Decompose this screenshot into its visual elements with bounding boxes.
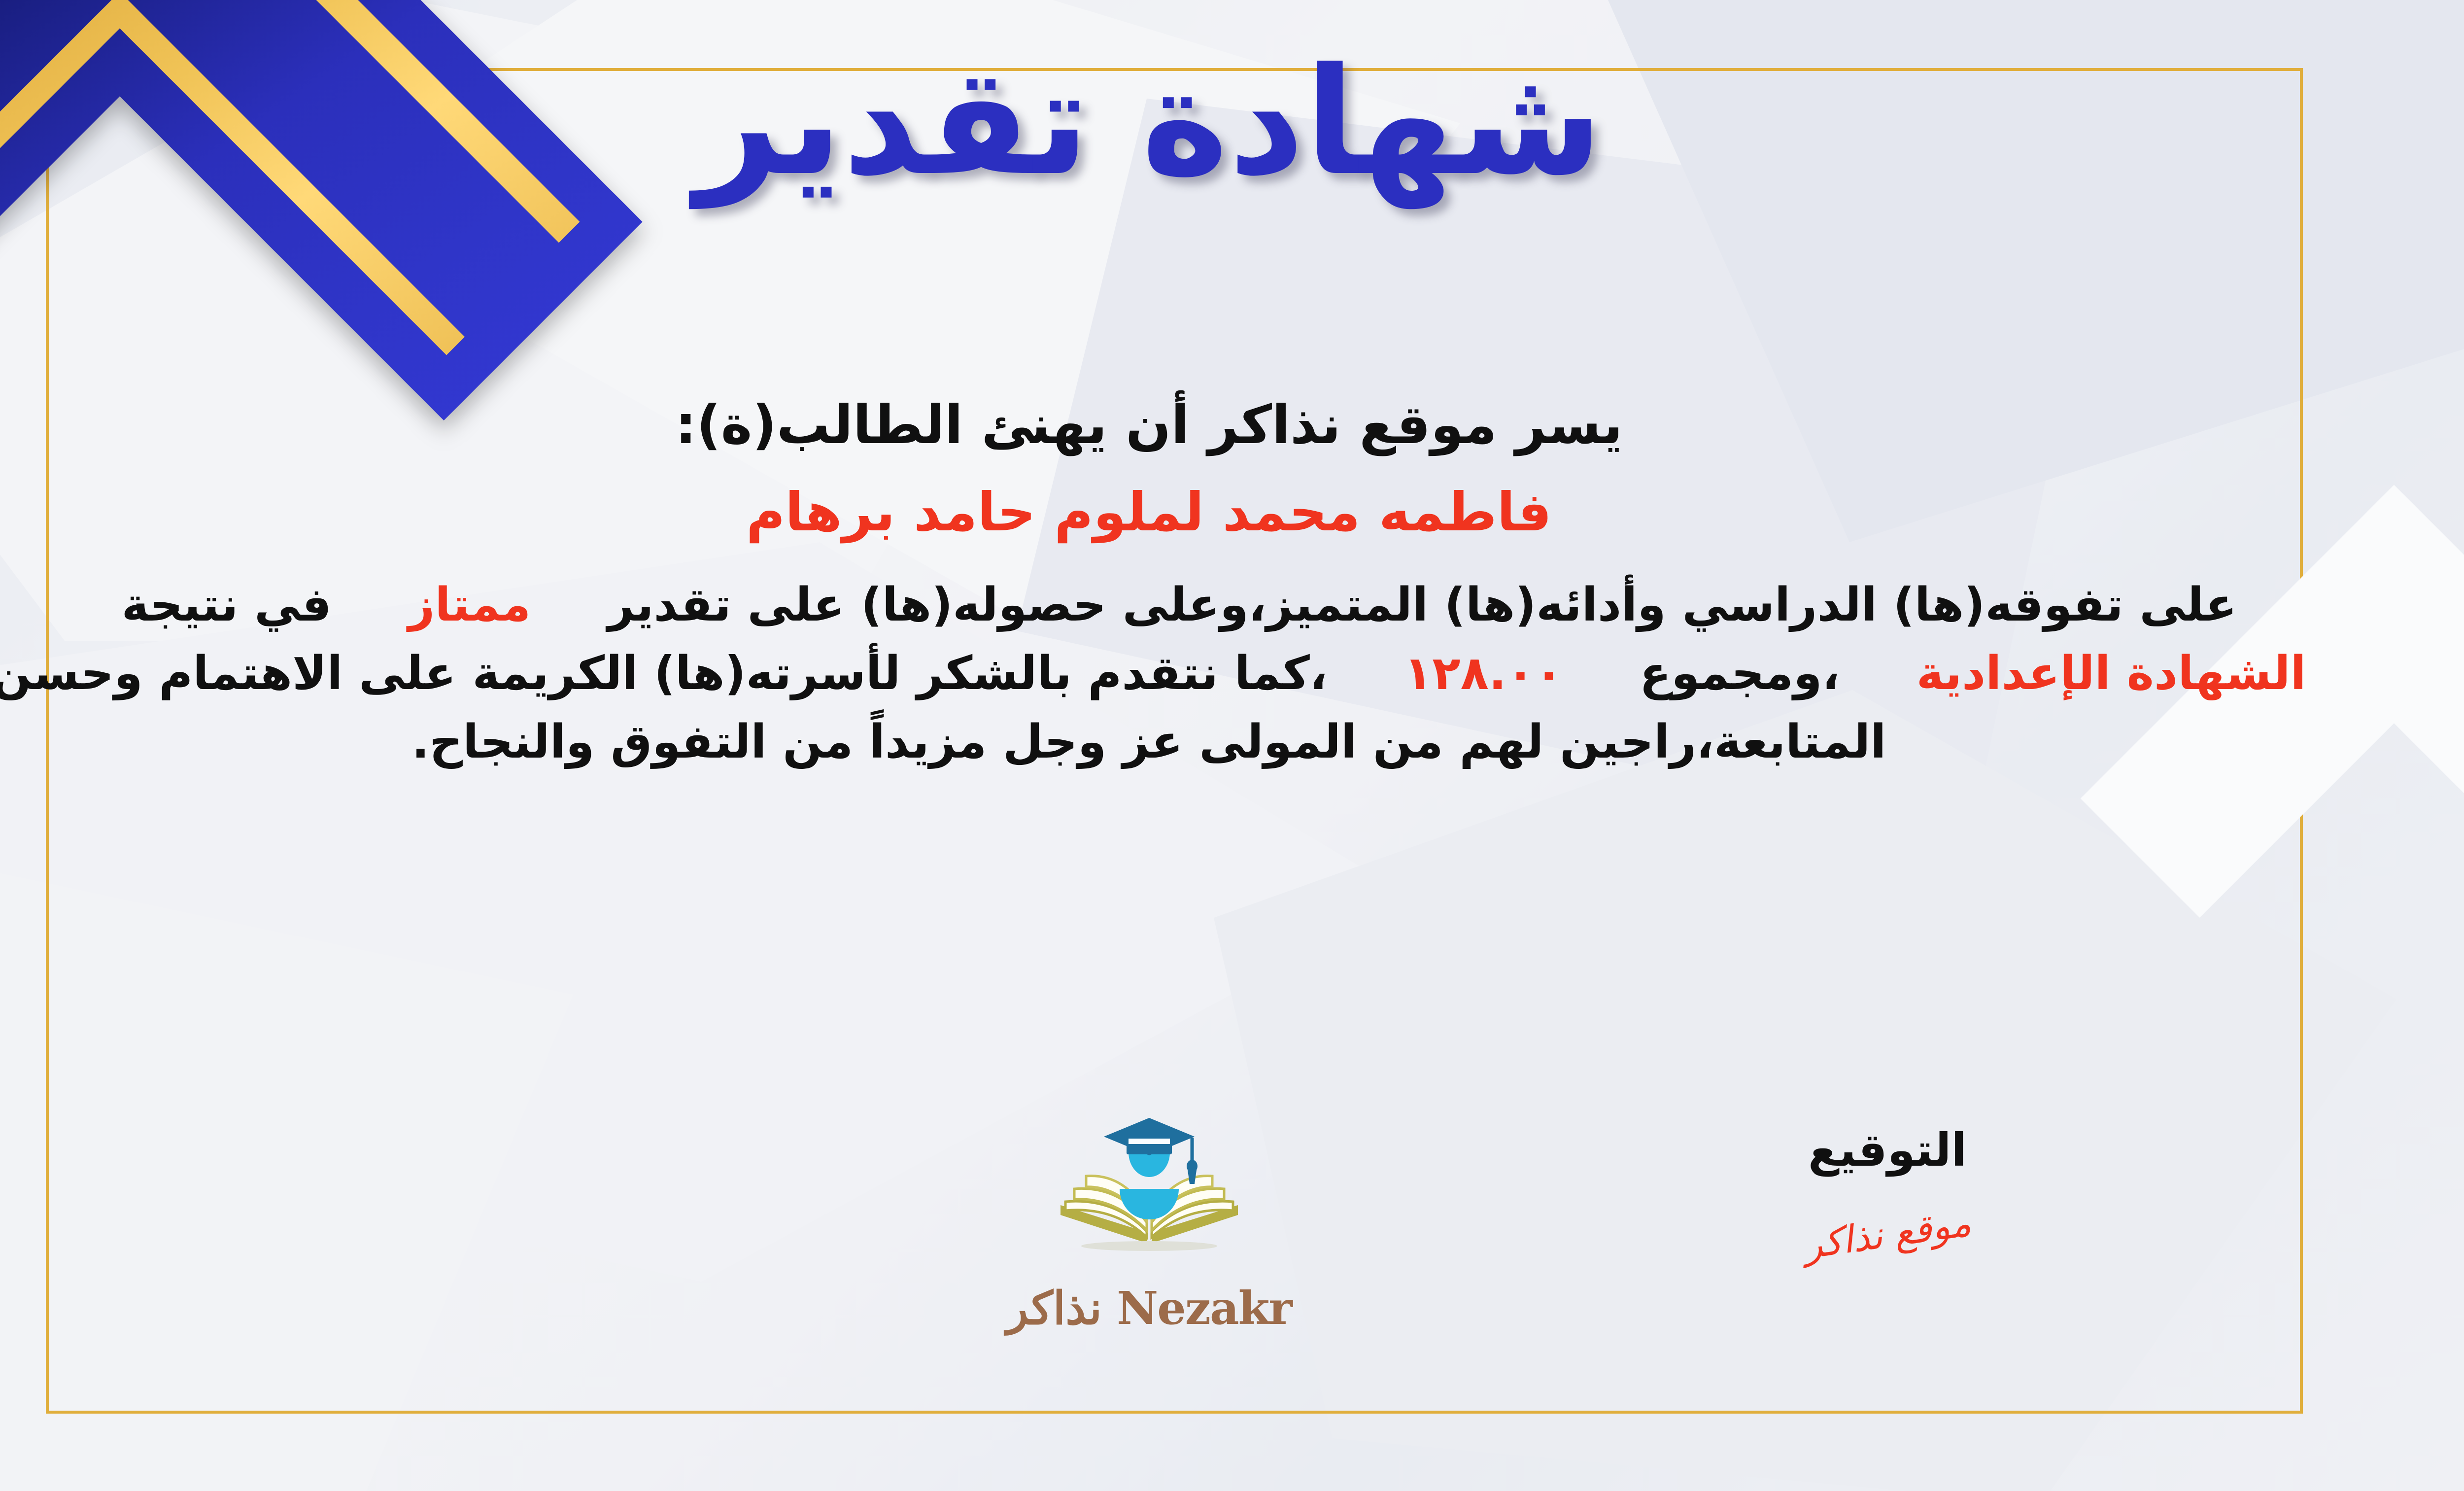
citation-segment-1: على تفوقه(ها) الدراسي وأدائه(ها) المتميز…	[608, 578, 2237, 632]
brand-logo: Nezakr نذاكر	[977, 1114, 1322, 1335]
certificate-page: شهادة تقدير يسر موقع نذاكر أن يهنئ الطال…	[0, 0, 2464, 1491]
certificate-footer: التوقيع موقع نذاكر	[0, 1124, 2316, 1439]
logo-wordmark: Nezakr نذاكر	[977, 1282, 1322, 1335]
greeting-line: يسر موقع نذاكر أن يهنئ الطالب(ة):	[0, 394, 2316, 456]
signature-label: التوقيع	[1685, 1124, 2089, 1177]
citation-segment-2: في نتيجة	[122, 578, 332, 632]
signature-mark: موقع نذاكر	[1801, 1201, 1974, 1268]
student-name: فاطمه محمد لملوم حامد برهام	[0, 482, 2316, 543]
citation-paragraph: على تفوقه(ها) الدراسي وأدائه(ها) المتميز…	[0, 571, 2316, 776]
citation-segment-3: ،ومجموع	[1640, 647, 1840, 700]
exam-name: الشهادة الإعدادية	[1916, 647, 2306, 700]
graduate-on-book-icon	[1046, 1114, 1253, 1277]
certificate-title: شهادة تقدير	[0, 30, 2464, 214]
grade-value: ممتاز	[408, 578, 531, 632]
citation-segment-4: ،كما نتقدم بالشكر لأسرته(ها) الكريمة على…	[0, 647, 1886, 769]
total-score: ١٢٨.٠٠	[1404, 647, 1563, 700]
certificate-body: يسر موقع نذاكر أن يهنئ الطالب(ة): فاطمه …	[0, 394, 2316, 776]
signature-block: التوقيع موقع نذاكر	[1685, 1124, 2089, 1256]
